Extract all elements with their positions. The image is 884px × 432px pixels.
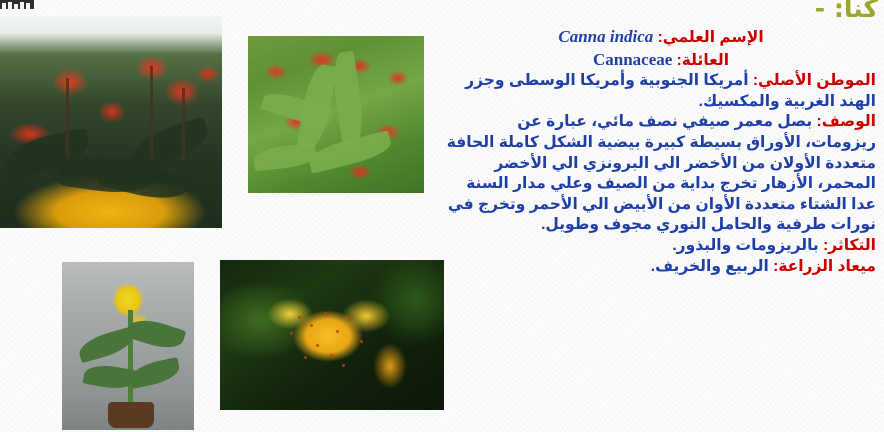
propagation-row: التكاثر: بالريزومات والبذور. [446, 236, 876, 257]
photo-canna-yellow-speckled-flower [220, 260, 444, 410]
planting-time-value: الربيع والخريف. [651, 258, 769, 275]
photo-canna-yellow-potted [62, 262, 194, 430]
origin-label: الموطن الأصلي: [753, 72, 876, 89]
scientific-name-row: الإسم العلمي: Canna indica [446, 26, 876, 49]
planting-time-label: ميعاد الزراعة: [773, 258, 876, 275]
page-title: كنا: - [815, 0, 878, 23]
propagation-value: بالريزومات والبذور. [672, 237, 818, 254]
planting-time-row: ميعاد الزراعة: الربيع والخريف. [446, 257, 876, 278]
propagation-label: التكاثر: [823, 237, 876, 254]
plant-info-text-block: الإسم العلمي: Canna indica العائلة: Cann… [446, 26, 876, 277]
scientific-name-value: Canna indica [558, 27, 653, 46]
origin-row: الموطن الأصلي: أمريكا الجنوبية وأمريكا ا… [446, 71, 876, 112]
photo-canna-red-garden-bed [0, 16, 222, 228]
description-row: الوصف: بصل معمر صيفي نصف مائي، عبارة عن … [446, 112, 876, 236]
description-label: الوصف: [817, 113, 876, 130]
description-value: بصل معمر صيفي نصف مائي، عبارة عن ريزومات… [447, 113, 876, 233]
scientific-name-label: الإسم العلمي: [658, 29, 764, 46]
slide-canvas: كنا: - الإسم العلمي: Canna indica العائل… [0, 0, 884, 432]
photo-canna-green-foliage [248, 36, 424, 193]
family-label: العائلة: [677, 52, 729, 69]
family-value: Cannaceae [593, 50, 672, 69]
cut-off-text-artifact [0, 0, 34, 9]
family-row: العائلة: Cannaceae [446, 49, 876, 72]
